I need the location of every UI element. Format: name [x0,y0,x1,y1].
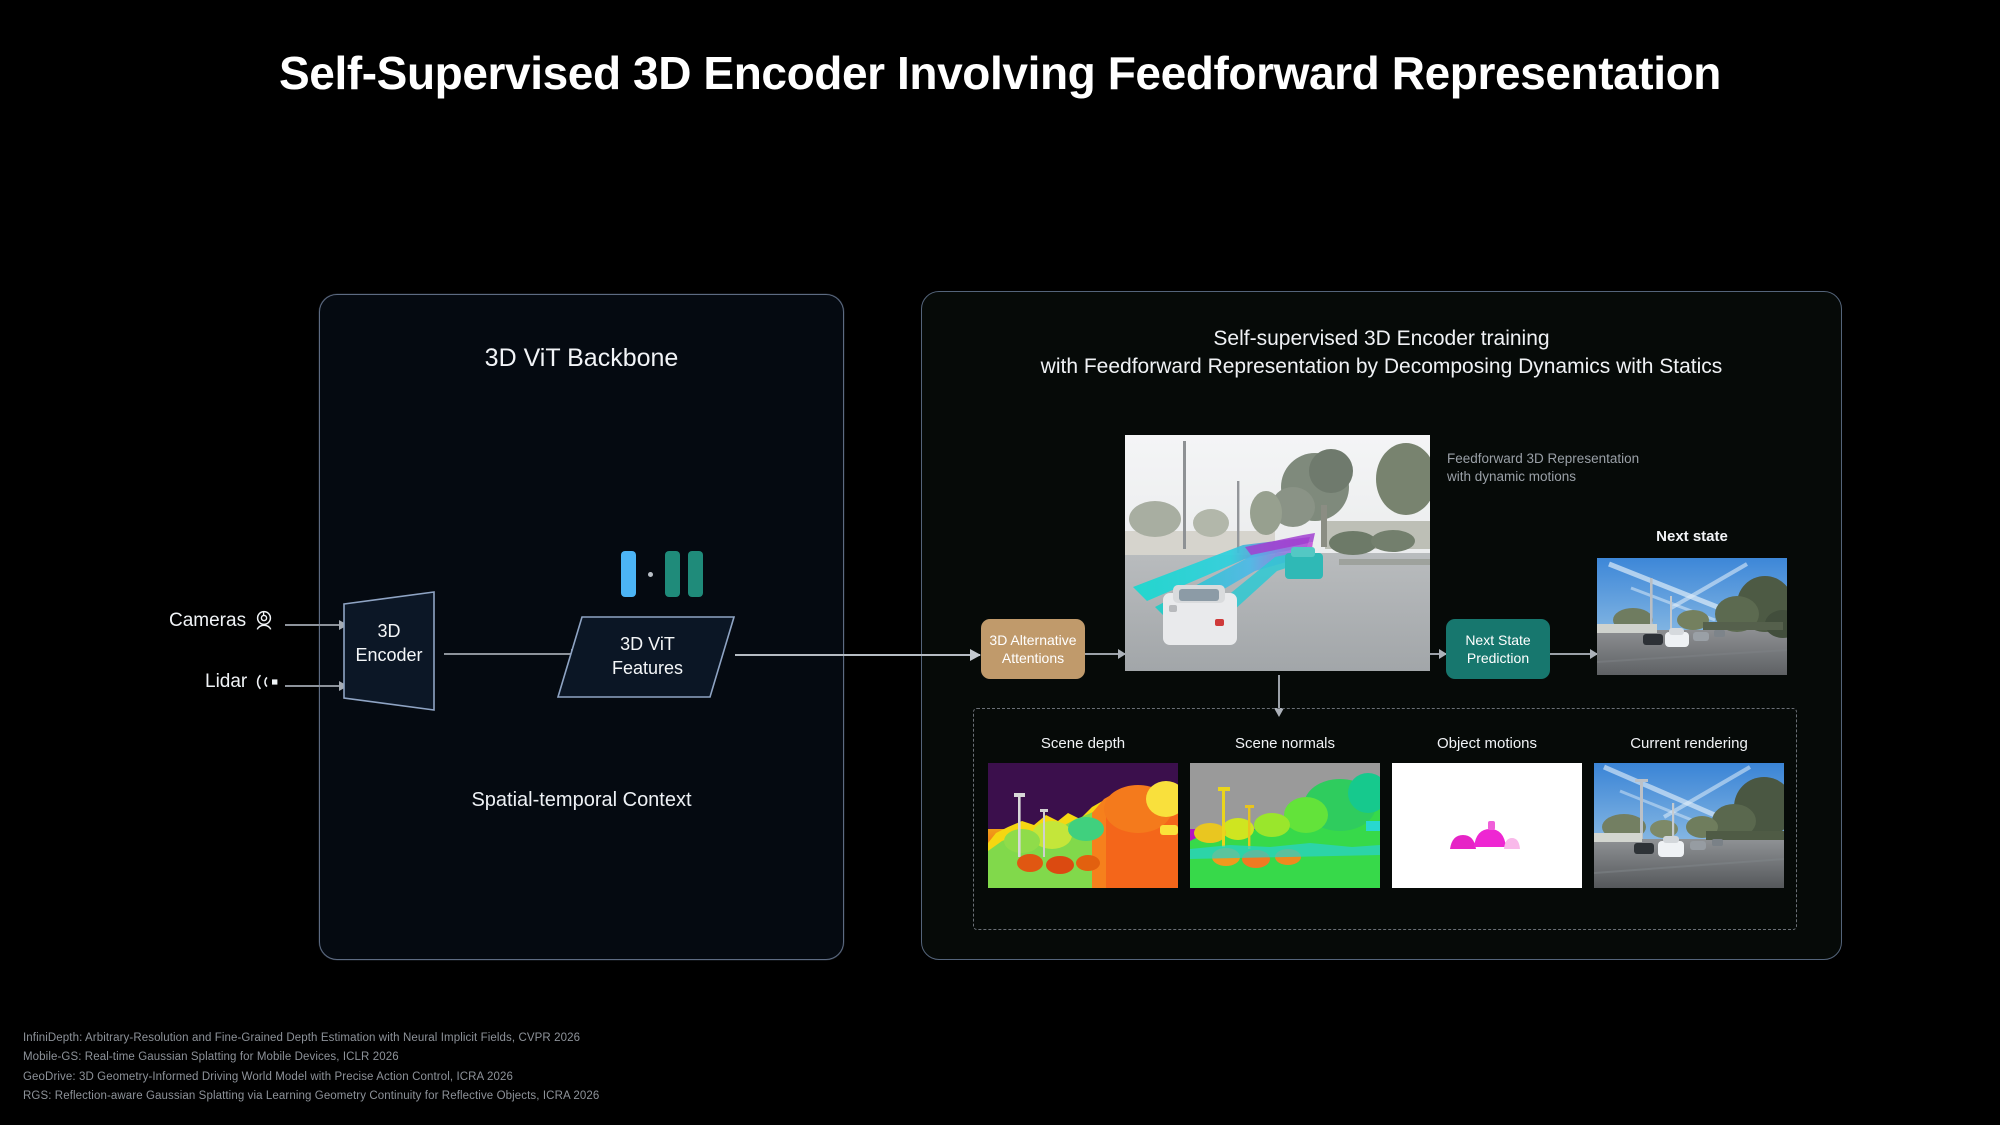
reference-footnotes: InfiniDepth: Arbitrary-Resolution and Fi… [23,1029,599,1106]
vit-label-line2: Features [570,656,725,680]
footnote-line: RGS: Reflection-aware Gaussian Splatting… [23,1087,599,1106]
right-panel-title-line2: with Feedforward Representation by Decom… [922,353,1841,381]
context-bar-blue [621,551,636,597]
next-state-image [1597,558,1787,675]
cameras-to-encoder-arrow [285,624,347,626]
output-label: Object motions [1392,735,1582,752]
spatial-temporal-context-label: Spatial-temporal Context [320,789,843,812]
footnote-line: InfiniDepth: Arbitrary-Resolution and Fi… [23,1029,599,1048]
lidar-text: Lidar [205,671,247,693]
depth-map-thumbnail [988,763,1178,888]
output-label: Scene normals [1190,735,1380,752]
rendered-street-thumbnail [1594,763,1784,888]
feedforward-note-line1: Feedforward 3D Representation [1447,450,1687,468]
input-label-cameras: Cameras [169,610,274,632]
3d-alternative-attentions-badge[interactable]: 3D Alternative Attentions [981,619,1085,679]
context-bar-teal-2 [688,551,703,597]
object-motion-thumbnail [1392,763,1582,888]
output-item-current-rendering: Current rendering [1594,735,1784,888]
3d-vit-features-label: 3D ViT Features [570,632,725,681]
representation-to-next-state-arrow [1430,653,1446,655]
lidar-to-encoder-arrow [285,685,347,687]
next-state-badge-line1: Next State [1465,631,1530,649]
output-label: Current rendering [1594,735,1784,752]
feedforward-note-line2: with dynamic motions [1447,468,1687,486]
vit-label-line1: 3D ViT [570,632,725,656]
input-label-lidar: Lidar [205,671,285,693]
encoder-label-line1: 3D [340,619,438,643]
attention-to-representation-arrow [1085,653,1125,655]
encoder-label-line2: Encoder [340,643,438,667]
attn-badge-line1: 3D Alternative [989,631,1076,649]
cameras-text: Cameras [169,610,246,632]
feedforward-representation-note: Feedforward 3D Representation with dynam… [1447,450,1687,486]
attn-badge-line2: Attentions [989,649,1076,667]
spatial-temporal-context-bars [621,549,707,599]
output-item-object-motions: Object motions [1392,735,1582,888]
context-separator-dot [648,572,653,577]
right-panel-title-line1: Self-supervised 3D Encoder training [922,325,1841,353]
page-title: Self-Supervised 3D Encoder Involving Fee… [0,48,2000,99]
context-bar-teal-1 [665,551,680,597]
3d-encoder-label: 3D Encoder [340,619,438,668]
footnote-line: GeoDrive: 3D Geometry-Informed Driving W… [23,1068,599,1087]
output-item-scene-depth: Scene depth [988,735,1178,888]
lidar-wave-icon [255,672,285,692]
slide-canvas: Self-Supervised 3D Encoder Involving Fee… [0,0,2000,1125]
output-label: Scene depth [988,735,1178,752]
next-state-to-image-arrow [1550,653,1597,655]
vit-to-attention-arrow [735,654,980,656]
footnote-line: Mobile-GS: Real-time Gaussian Splatting … [23,1048,599,1067]
representation-to-outputs-arrow [1278,675,1280,709]
camera-icon [254,610,274,632]
next-state-badge-line2: Prediction [1465,649,1530,667]
normal-map-thumbnail [1190,763,1380,888]
right-panel-title: Self-supervised 3D Encoder training with… [922,325,1841,381]
next-state-prediction-badge[interactable]: Next State Prediction [1446,619,1550,679]
output-item-scene-normals: Scene normals [1190,735,1380,888]
next-state-label: Next state [1597,528,1787,545]
decomposed-outputs-container: Scene depth [973,708,1797,930]
left-panel-title: 3D ViT Backbone [320,344,843,373]
feedforward-3d-representation-image [1125,435,1430,671]
